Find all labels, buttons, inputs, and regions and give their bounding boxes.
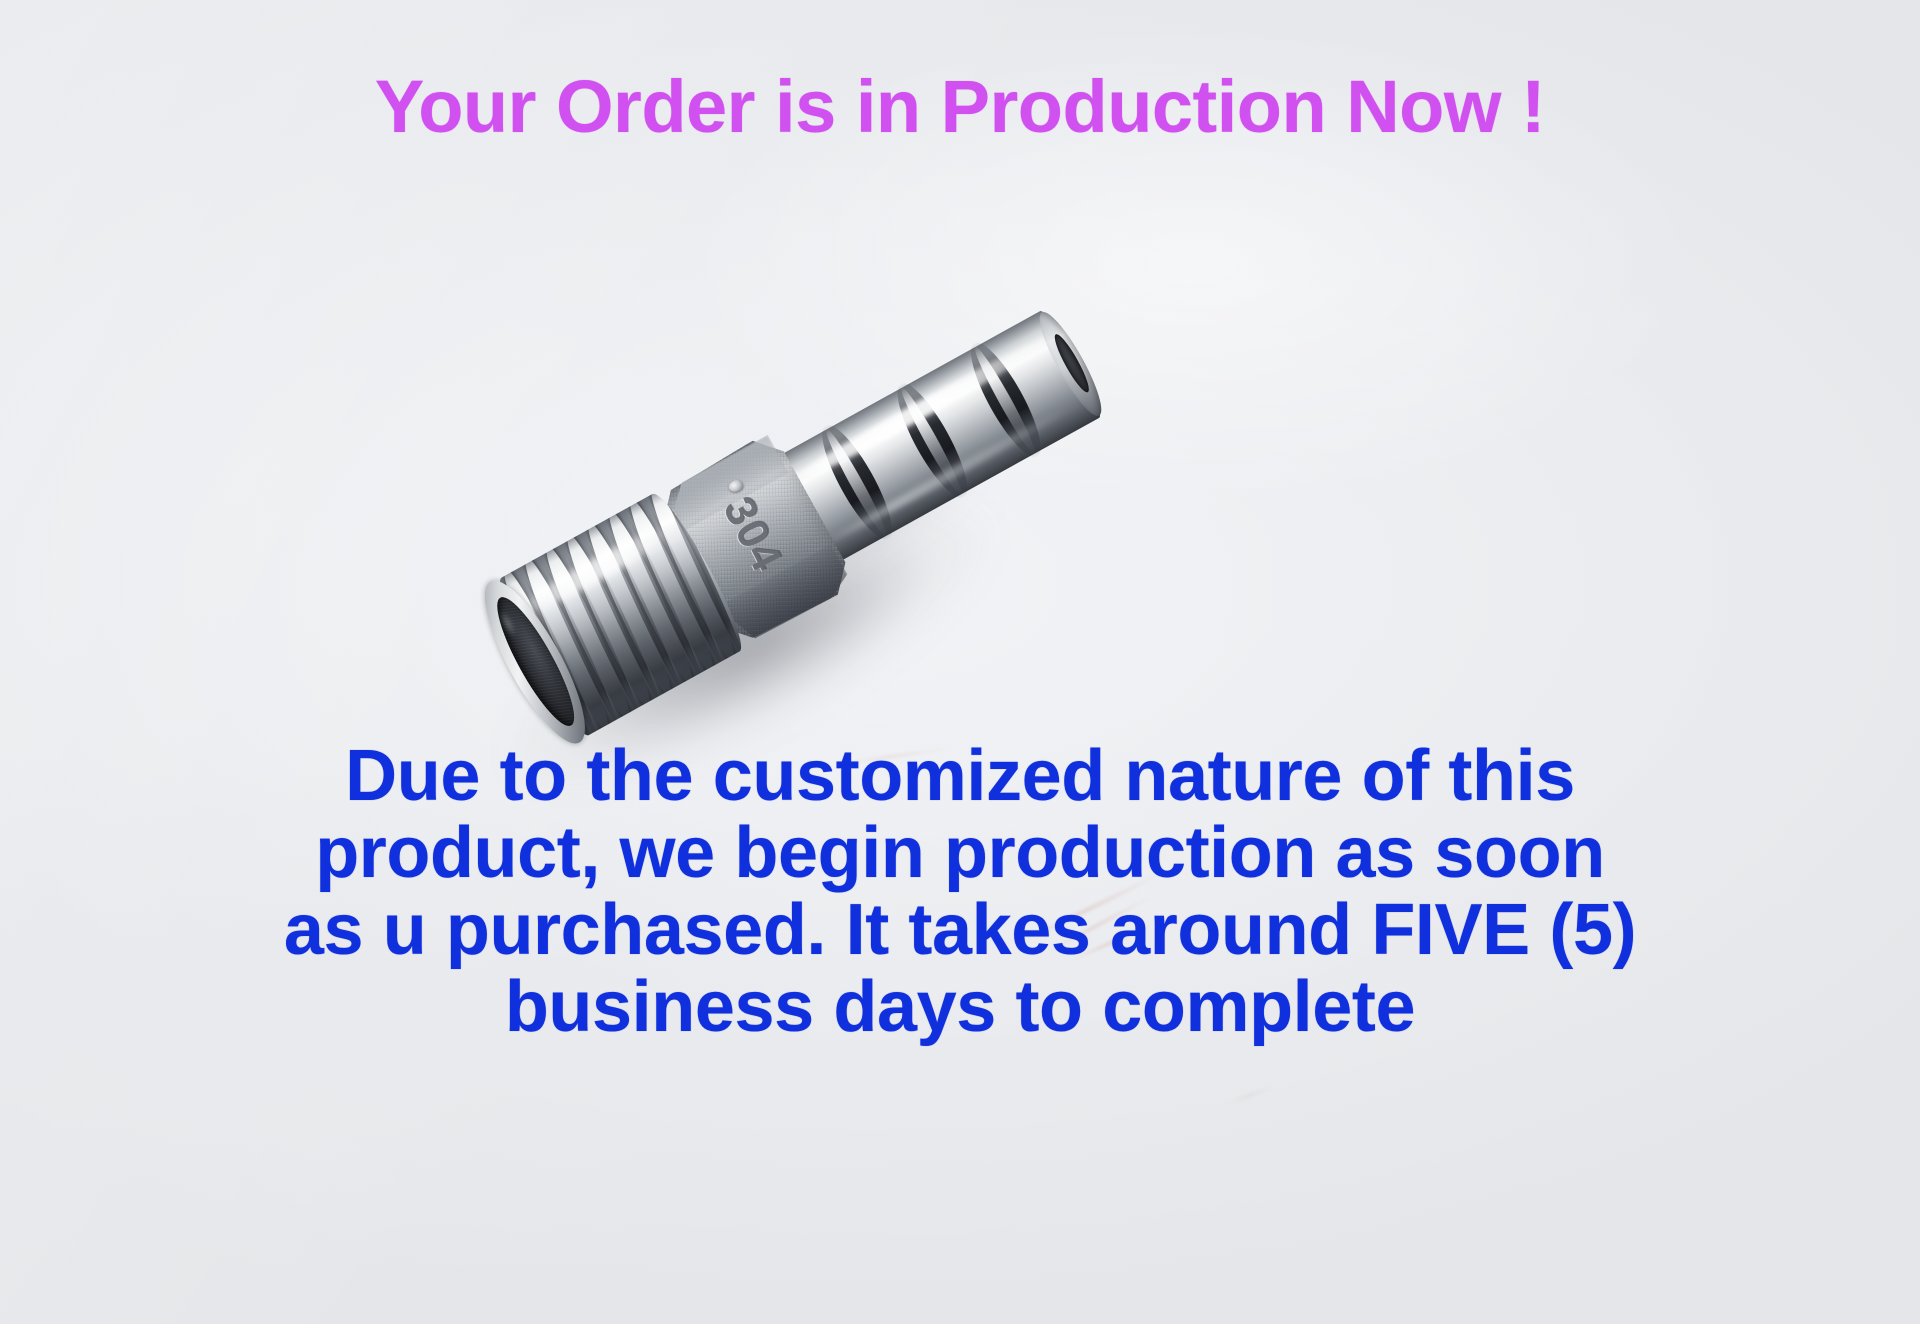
notice-line: as u purchased. It takes around FIVE (5)	[60, 892, 1860, 969]
notice-line: Due to the customized nature of this	[60, 738, 1860, 815]
production-notice: Due to the customized nature of this pro…	[60, 738, 1860, 1046]
promotional-banner: Your Order is in Production Now !	[0, 0, 1920, 1324]
page-title: Your Order is in Production Now !	[0, 70, 1920, 144]
product-photo: 304	[455, 300, 1155, 720]
notice-line: product, we begin production as soon	[60, 815, 1860, 892]
notice-line: business days to complete	[60, 969, 1860, 1046]
